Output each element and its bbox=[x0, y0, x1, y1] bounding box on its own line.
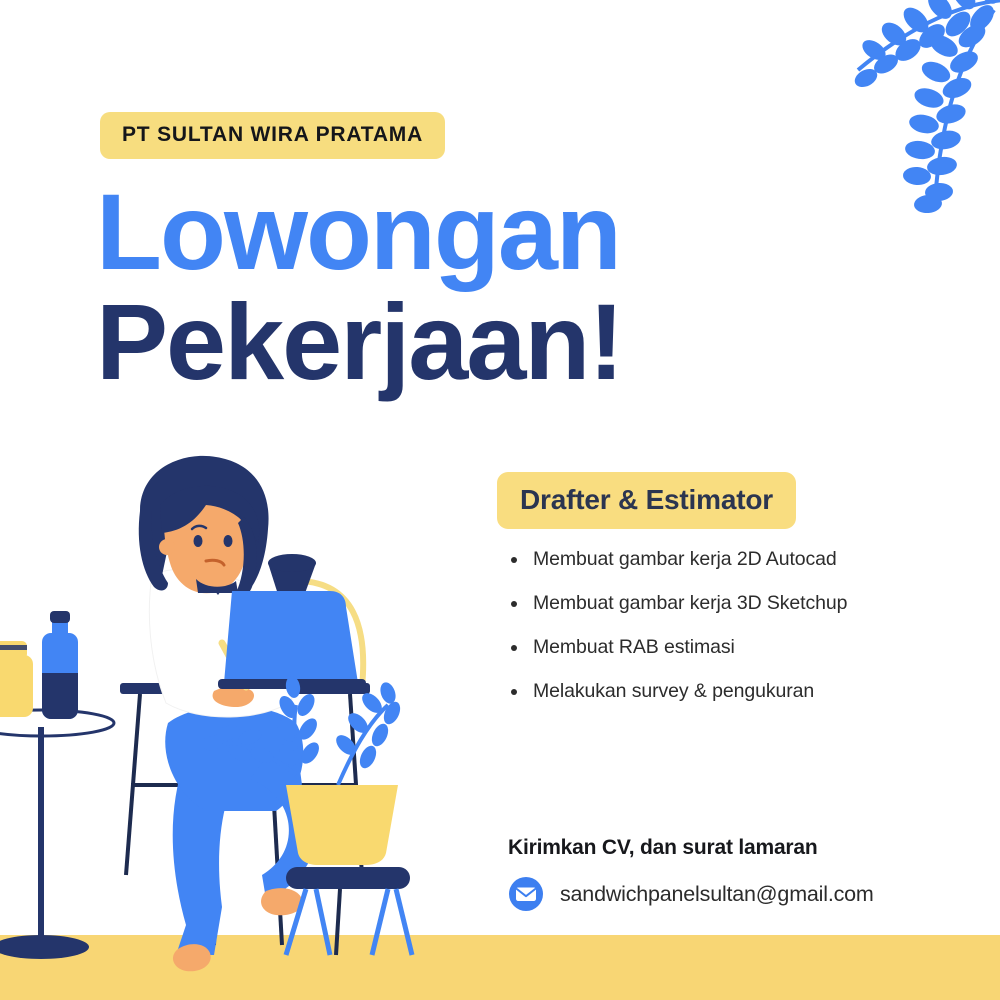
list-item: Membuat RAB estimasi bbox=[505, 636, 847, 659]
duties-list: Membuat gambar kerja 2D Autocad Membuat … bbox=[505, 548, 847, 724]
woman-working-laptop-illustration bbox=[0, 455, 480, 1000]
yellow-jar bbox=[0, 641, 33, 717]
side-table bbox=[0, 710, 114, 959]
leaf-branch-decoration bbox=[796, 0, 1000, 232]
blue-bottle bbox=[42, 611, 78, 719]
contact-email-text: sandwichpanelsultan@gmail.com bbox=[560, 882, 874, 907]
headline-line-2: Pekerjaan! bbox=[96, 286, 622, 398]
list-item: Membuat gambar kerja 3D Sketchup bbox=[505, 592, 847, 615]
contact-email-row: sandwichpanelsultan@gmail.com bbox=[508, 876, 874, 912]
laptop bbox=[218, 591, 366, 689]
mail-icon bbox=[508, 876, 544, 912]
contact-instruction: Kirimkan CV, dan surat lamaran bbox=[508, 836, 818, 860]
headline-line-1: Lowongan bbox=[96, 178, 622, 286]
list-item: Melakukan survey & pengukuran bbox=[505, 680, 847, 703]
company-name-label: PT SULTAN WIRA PRATAMA bbox=[122, 123, 423, 146]
headline: Lowongan Pekerjaan! bbox=[96, 178, 622, 398]
job-title-label: Drafter & Estimator bbox=[520, 484, 773, 515]
plant-stool bbox=[286, 867, 412, 955]
job-poster: PT SULTAN WIRA PRATAMA Lowongan Pekerjaa… bbox=[0, 0, 1000, 1000]
job-title-badge: Drafter & Estimator bbox=[497, 472, 796, 529]
list-item: Membuat gambar kerja 2D Autocad bbox=[505, 548, 847, 571]
company-name-badge: PT SULTAN WIRA PRATAMA bbox=[100, 112, 445, 159]
